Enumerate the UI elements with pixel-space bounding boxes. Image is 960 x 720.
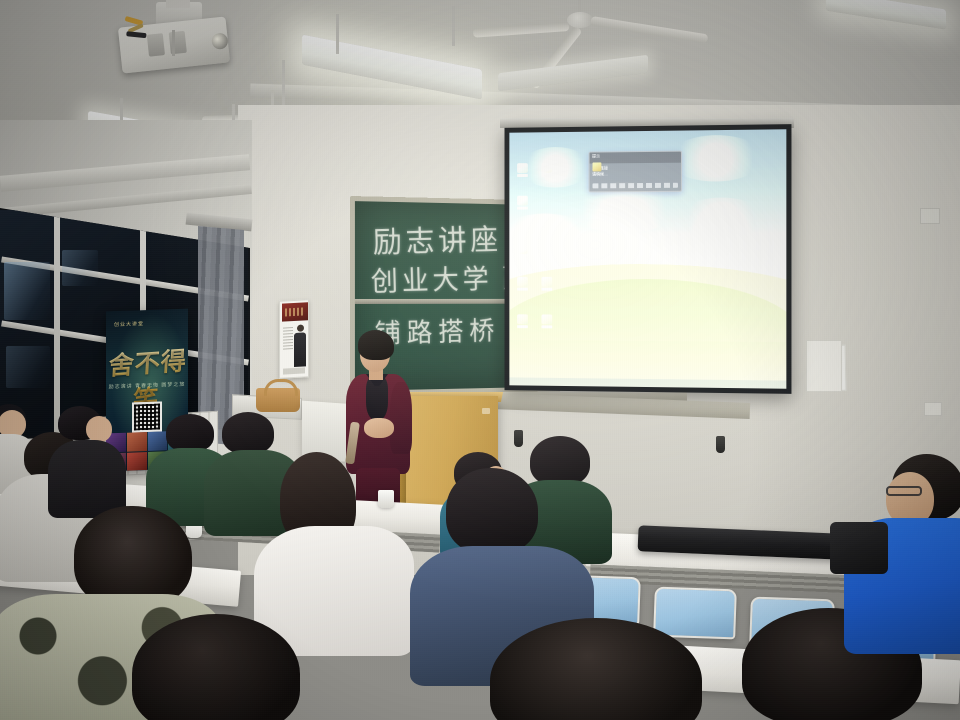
qr-code-icon[interactable] [132, 401, 162, 432]
cable [126, 31, 146, 38]
projector-lens [211, 32, 229, 50]
light-hanger-rod [336, 14, 339, 54]
speaker-profile-poster [279, 299, 309, 379]
fan-hub [567, 12, 593, 28]
backpack [830, 522, 888, 574]
poster-footer [283, 367, 305, 374]
hair [530, 436, 590, 486]
blackboard-line-1: 励志讲座 [372, 215, 502, 261]
hair [446, 468, 538, 554]
cord-weight [514, 430, 523, 447]
dialog-button-row[interactable] [592, 183, 678, 189]
projection-screen[interactable]: 提示 正在连接 请稍候… [509, 129, 786, 388]
cloud [520, 147, 591, 188]
dialog-warning-icon [592, 163, 601, 172]
media-player-icon[interactable] [517, 244, 528, 258]
dialog-body: 正在连接 请稍候… [589, 162, 681, 179]
wall-plate-lower [924, 402, 942, 416]
folder-icon[interactable] [517, 196, 528, 210]
light-hanger-rod [452, 6, 455, 46]
shortcut-icon[interactable] [542, 315, 553, 329]
banner-photo [127, 432, 147, 451]
recycle-bin-icon[interactable] [542, 163, 553, 177]
hill-near [509, 279, 786, 389]
projector-drop-cable [172, 30, 175, 56]
banner-photo [127, 452, 147, 471]
cloud [668, 135, 763, 182]
podium-label [482, 408, 490, 414]
browser-icon[interactable] [517, 277, 528, 291]
speaker-box [806, 340, 842, 392]
wicker-basket [256, 388, 300, 412]
window-reflection [6, 346, 50, 388]
projection-screen-frame: 提示 正在连接 请稍候… [505, 124, 792, 394]
hair [166, 414, 214, 452]
poster-portrait [294, 324, 306, 369]
cord-weight [716, 436, 725, 453]
presenter [344, 330, 418, 512]
window-reflection [62, 250, 98, 286]
app-icon[interactable] [517, 315, 528, 329]
chair[interactable] [653, 587, 737, 640]
glasses-icon [886, 486, 922, 496]
cloud [679, 197, 763, 239]
system-dialog[interactable]: 提示 正在连接 请稍候… [588, 151, 682, 193]
torso [48, 440, 126, 518]
presenter-hair [358, 330, 394, 360]
poster-header-image [282, 302, 308, 321]
projector-cables [125, 17, 152, 45]
window-mullion [54, 212, 60, 440]
wall-plate-upper [920, 208, 940, 224]
fan-rod [578, 0, 581, 12]
hair [222, 412, 274, 454]
paper-cup [378, 490, 394, 508]
head [86, 416, 112, 442]
poster-text-lines [283, 327, 293, 352]
banner-photo [148, 431, 168, 450]
presenter-hands [364, 418, 394, 438]
dialog-line-2: 请稍候… [592, 170, 678, 177]
presenter-arm [390, 382, 412, 454]
document-icon[interactable] [542, 277, 553, 291]
my-computer-icon[interactable] [517, 163, 528, 177]
window-reflection [4, 262, 50, 320]
banner-top-label: 创业大讲堂 [114, 320, 144, 328]
hair [74, 506, 192, 608]
classroom-photo: 励志讲座 创业大学 赢未来 铺路搭桥 2017年11月16日周四 第二教学楼 励… [0, 0, 960, 720]
